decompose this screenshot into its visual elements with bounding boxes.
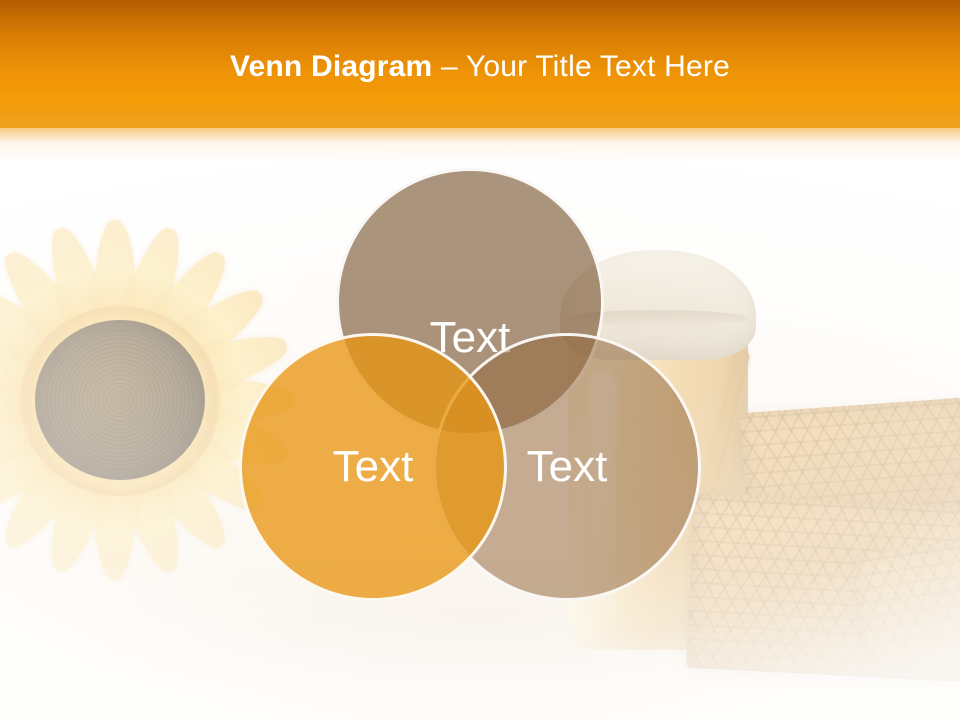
venn-diagram: Text Text Text (0, 0, 960, 720)
slide: Venn Diagram – Your Title Text Here Text… (0, 0, 960, 720)
venn-circle-right-label: Text (527, 445, 608, 489)
venn-circle-left[interactable]: Text (239, 333, 507, 601)
venn-circle-left-label: Text (333, 445, 414, 489)
